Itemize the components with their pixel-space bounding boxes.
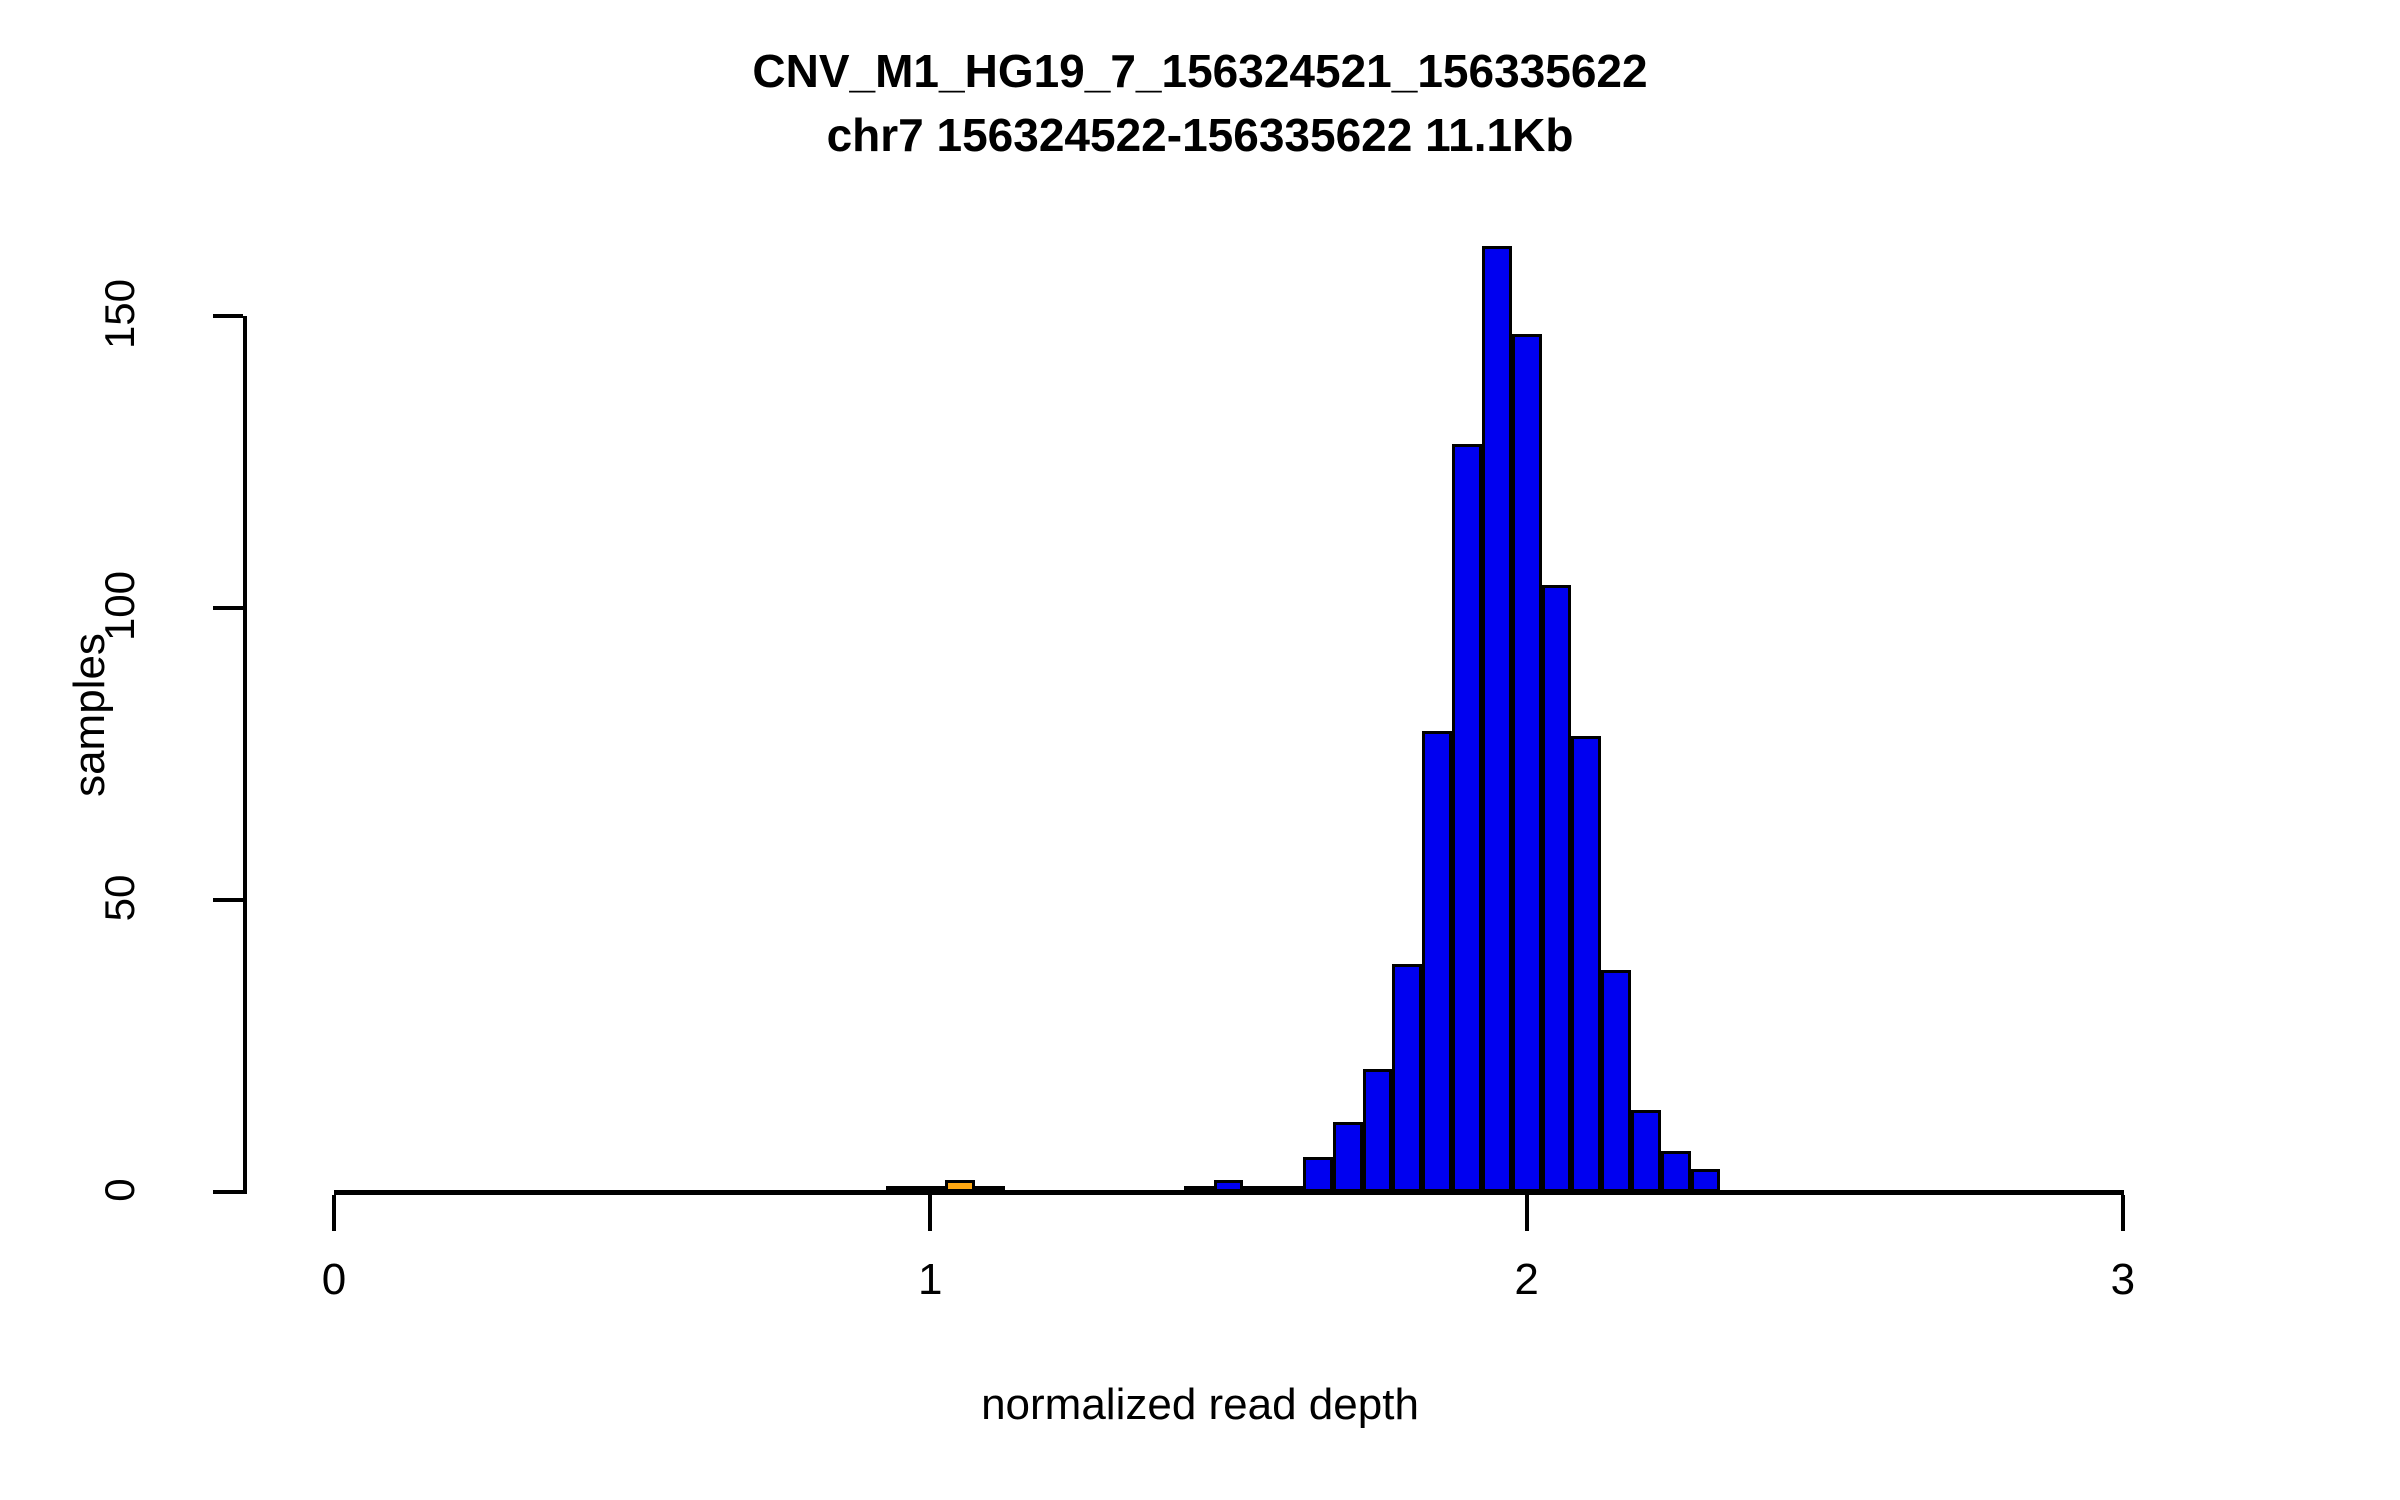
y-tick-50 bbox=[213, 898, 243, 902]
histogram-bar bbox=[1631, 1110, 1661, 1192]
x-tick-2 bbox=[1525, 1195, 1529, 1231]
x-tick-label-2: 2 bbox=[1467, 1255, 1587, 1305]
histogram-bar bbox=[915, 1186, 945, 1192]
chart-canvas: CNV_M1_HG19_7_156324521_156335622 chr7 1… bbox=[0, 0, 2400, 1500]
x-axis-label: normalized read depth bbox=[0, 1380, 2400, 1430]
y-tick-0 bbox=[213, 1190, 243, 1194]
histogram-bar bbox=[1542, 585, 1572, 1192]
histogram-bar bbox=[1333, 1122, 1363, 1192]
y-axis-line bbox=[243, 316, 247, 1194]
histogram-bar bbox=[1571, 736, 1601, 1192]
histogram-bar bbox=[975, 1186, 1005, 1192]
histogram-bar bbox=[945, 1180, 975, 1192]
histogram-bar bbox=[1184, 1186, 1214, 1192]
histogram-bar bbox=[1303, 1157, 1333, 1192]
x-tick-3 bbox=[2121, 1195, 2125, 1231]
histogram-bar bbox=[1482, 246, 1512, 1192]
histogram-bar bbox=[1392, 964, 1422, 1192]
histogram-bar bbox=[1691, 1169, 1721, 1192]
y-tick-label-150: 150 bbox=[96, 254, 144, 374]
histogram-bar bbox=[1512, 334, 1542, 1192]
histogram-bar bbox=[1422, 731, 1452, 1192]
histogram-bar bbox=[886, 1186, 916, 1192]
histogram-bar bbox=[1452, 444, 1482, 1192]
y-tick-label-0: 0 bbox=[96, 1130, 144, 1250]
histogram-bar bbox=[1273, 1186, 1303, 1192]
x-tick-label-1: 1 bbox=[870, 1255, 990, 1305]
y-tick-150 bbox=[213, 314, 243, 318]
histogram-bar bbox=[1601, 970, 1631, 1192]
histogram-bar bbox=[1363, 1069, 1393, 1192]
x-tick-label-3: 3 bbox=[2063, 1255, 2183, 1305]
histogram-bar bbox=[1243, 1186, 1273, 1192]
plot-area: 050100150 samples 0123 normalized read d… bbox=[0, 0, 2400, 1500]
histogram-bar bbox=[1214, 1180, 1244, 1192]
histogram-bar bbox=[1661, 1151, 1691, 1192]
x-tick-1 bbox=[928, 1195, 932, 1231]
y-axis-label: samples bbox=[65, 565, 115, 865]
x-tick-label-0: 0 bbox=[274, 1255, 394, 1305]
x-tick-0 bbox=[332, 1195, 336, 1231]
y-tick-100 bbox=[213, 606, 243, 610]
